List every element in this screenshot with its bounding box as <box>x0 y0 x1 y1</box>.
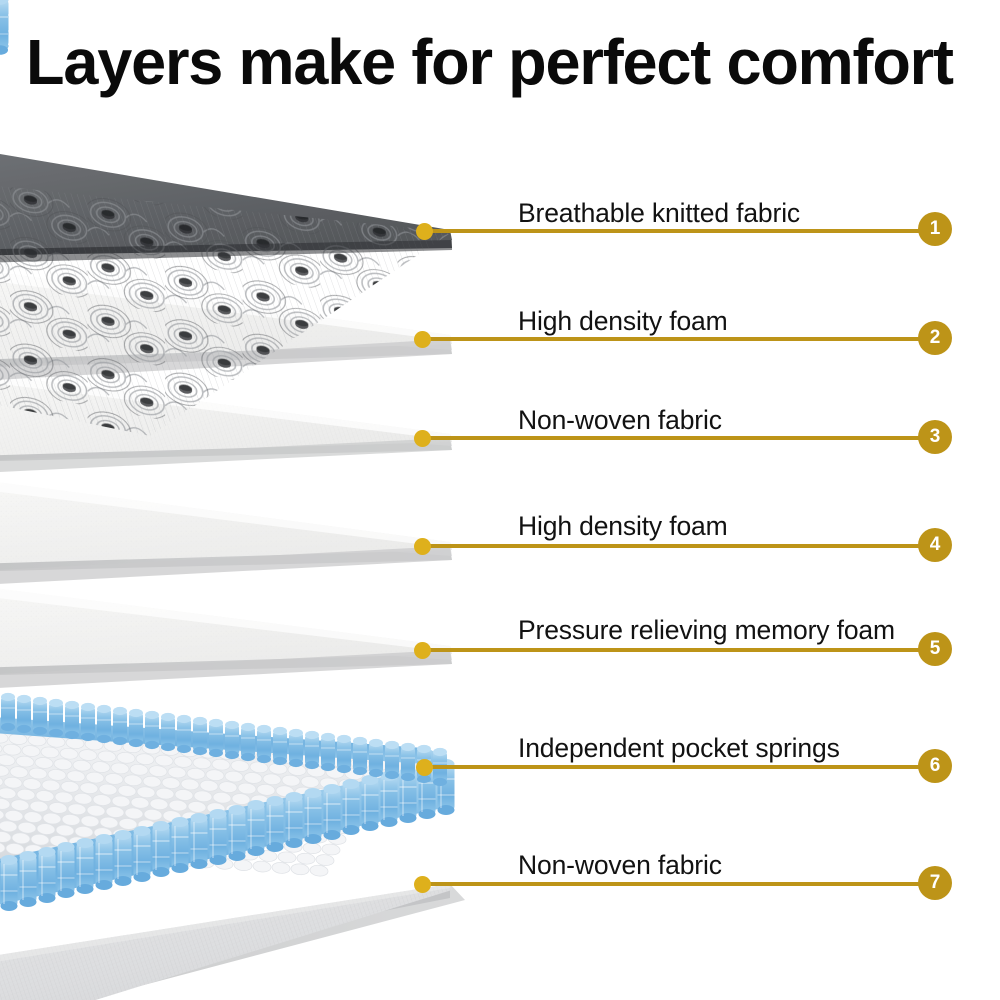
leader-dot-7 <box>414 876 431 893</box>
layer-badge-2[interactable]: 2 <box>918 321 952 355</box>
mattress-layer-illustration <box>0 0 1000 1000</box>
leader-line-3 <box>422 436 922 440</box>
layer-badge-5[interactable]: 5 <box>918 632 952 666</box>
leader-line-6 <box>424 765 922 769</box>
layer-label-1: Breathable knitted fabric <box>518 198 800 229</box>
leader-line-4 <box>422 544 922 548</box>
layer-badge-7[interactable]: 7 <box>918 866 952 900</box>
layer-label-4: High density foam <box>518 511 728 542</box>
layer-label-7: Non-woven fabric <box>518 850 722 881</box>
layer-badge-6[interactable]: 6 <box>918 749 952 783</box>
layer-label-6: Independent pocket springs <box>518 733 840 764</box>
layer-label-5: Pressure relieving memory foam <box>518 615 895 646</box>
layer-badge-4[interactable]: 4 <box>918 528 952 562</box>
leader-dot-1 <box>416 223 433 240</box>
leader-dot-5 <box>414 642 431 659</box>
layer-label-3: Non-woven fabric <box>518 405 722 436</box>
layer-7-non-woven-fabric <box>0 884 465 1000</box>
leader-line-1 <box>424 229 922 233</box>
leader-dot-4 <box>414 538 431 555</box>
layer-label-2: High density foam <box>518 306 728 337</box>
leader-dot-2 <box>414 331 431 348</box>
leader-line-7 <box>422 882 922 886</box>
leader-dot-3 <box>414 430 431 447</box>
leader-line-5 <box>422 648 922 652</box>
infographic-canvas: Layers make for perfect comfort <box>0 0 1000 1000</box>
leader-line-2 <box>422 337 922 341</box>
leader-dot-6 <box>416 759 433 776</box>
layer-badge-1[interactable]: 1 <box>918 212 952 246</box>
layer-badge-3[interactable]: 3 <box>918 420 952 454</box>
